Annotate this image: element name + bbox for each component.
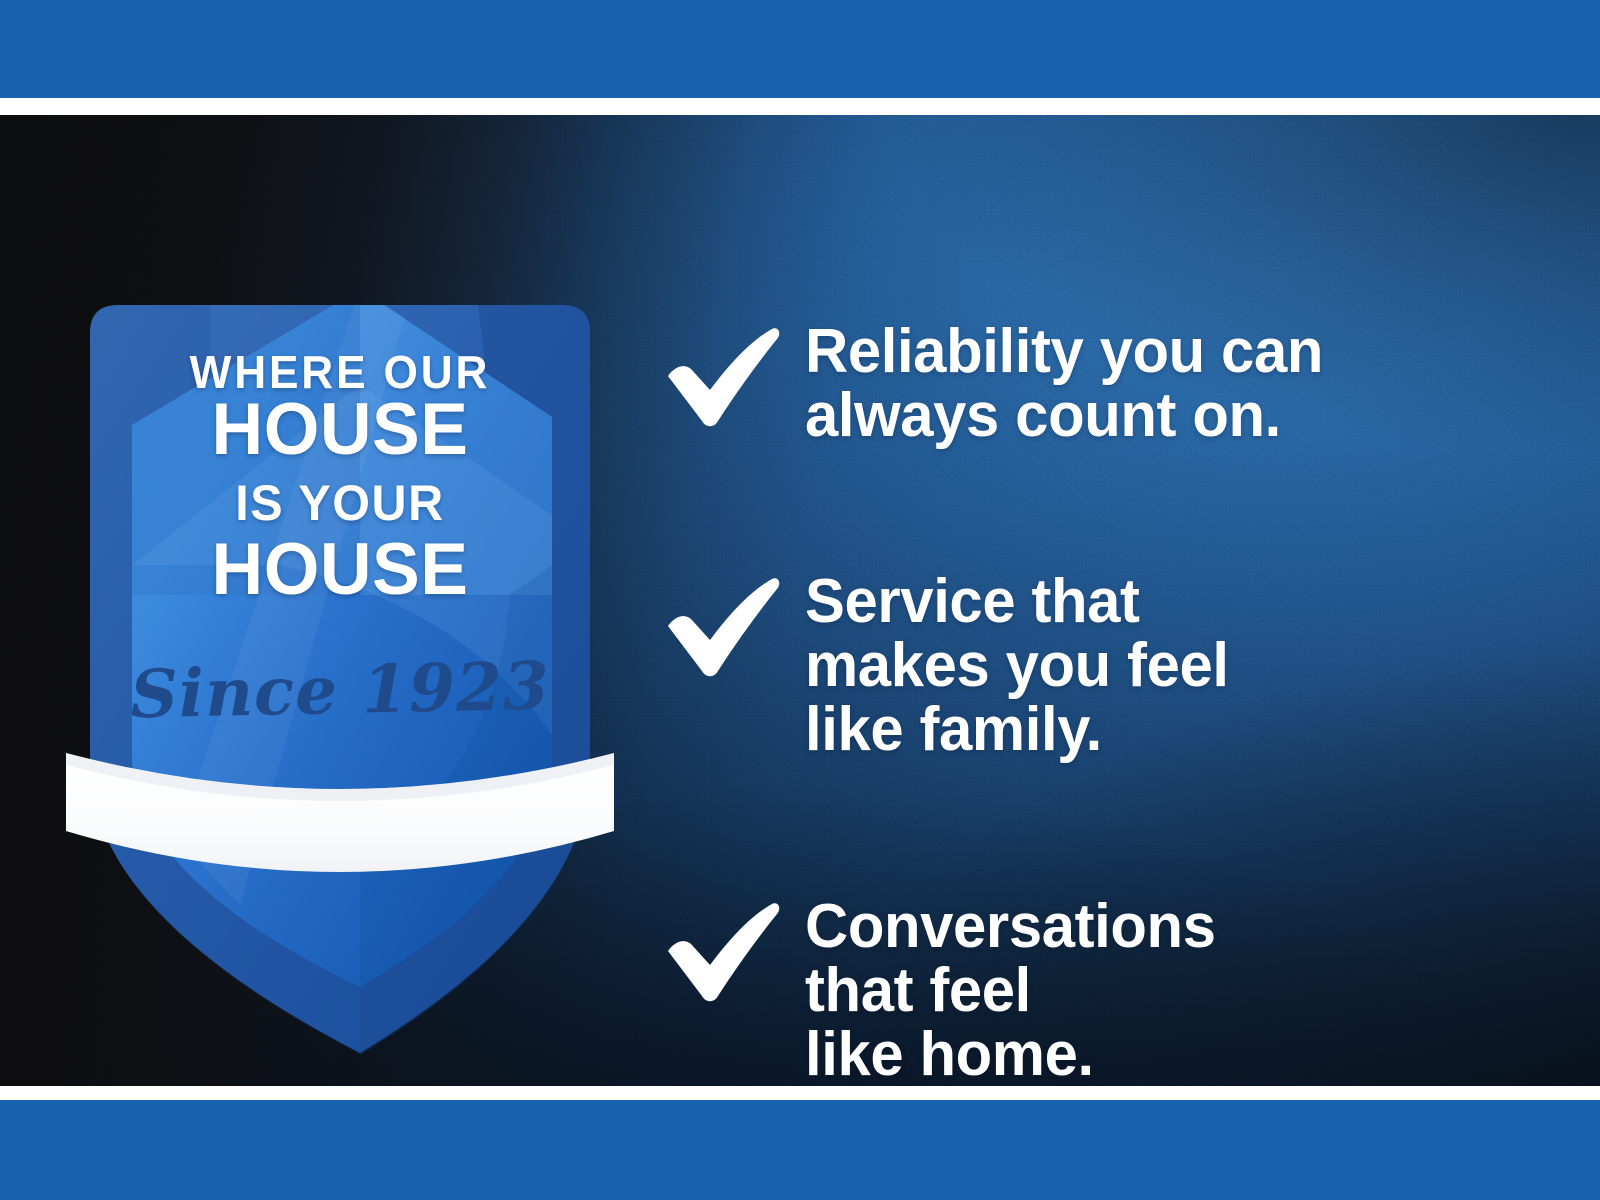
benefit-2-line-1: Service that [805,570,1229,634]
benefit-2-line-2: makes you feel [805,634,1229,698]
benefit-text-2: Service that makes you feel like family. [805,570,1229,762]
promo-graphic: WHERE OUR HOUSE IS YOUR HOUSE Since 1923… [0,0,1600,1200]
shield-badge: WHERE OUR HOUSE IS YOUR HOUSE Since 1923 [60,265,620,1065]
top-white-divider [0,98,1600,115]
benefits-list: Reliability you can always count on. Ser… [660,290,1520,1086]
benefit-1-line-2: always count on. [805,384,1323,448]
benefit-item-2: Service that makes you feel like family. [660,570,1244,762]
shield-graphic [60,265,620,1065]
benefit-text-3: Conversations that feel like home. [805,895,1216,1086]
checkmark-icon-3 [660,895,805,1009]
benefit-3-line-3: like home. [805,1023,1216,1086]
checkmark-icon-2 [660,570,805,684]
bottom-white-divider [0,1086,1600,1100]
benefit-3-line-1: Conversations [805,895,1216,959]
benefit-item-1: Reliability you can always count on. [660,320,1342,448]
main-canvas: WHERE OUR HOUSE IS YOUR HOUSE Since 1923… [0,115,1600,1086]
top-brand-bar [0,0,1600,98]
benefit-item-3: Conversations that feel like home. [660,895,1230,1086]
bottom-brand-bar [0,1100,1600,1200]
benefit-3-line-2: that feel [805,959,1216,1023]
benefit-2-line-3: like family. [805,698,1229,762]
benefit-text-1: Reliability you can always count on. [805,320,1323,448]
checkmark-icon-1 [660,320,805,434]
benefit-1-line-1: Reliability you can [805,320,1323,384]
